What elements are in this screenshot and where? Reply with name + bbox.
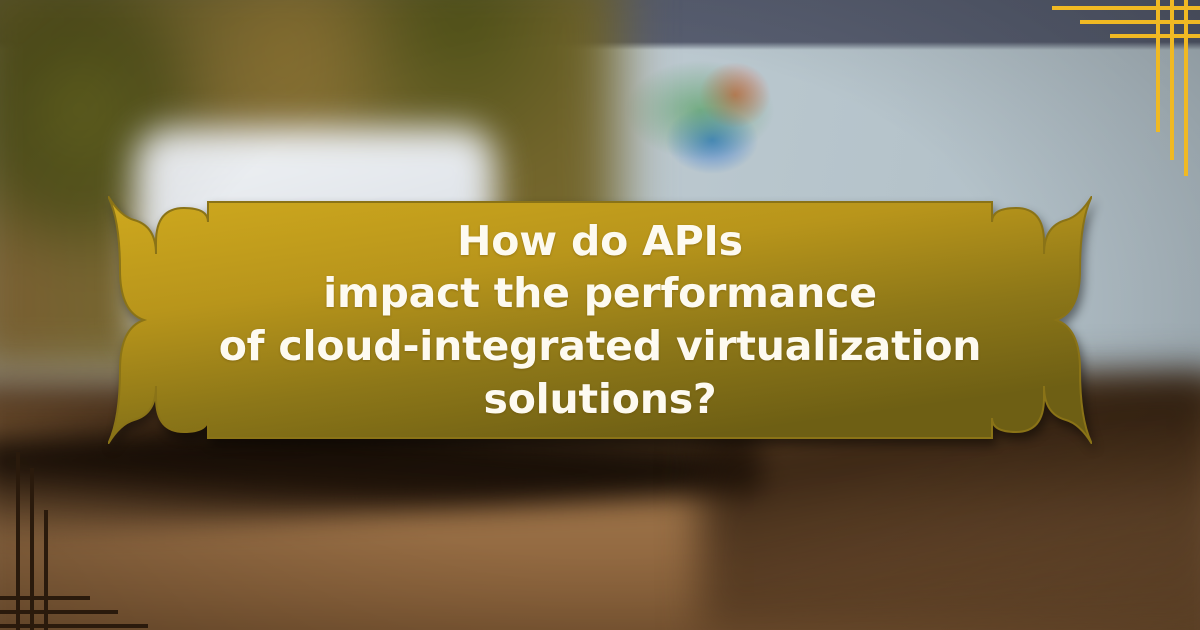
title-line-1: How do APIs (457, 215, 743, 268)
plaque-title-text: How do APIs impact the performance of cl… (108, 196, 1092, 444)
title-line-4: solutions? (483, 373, 716, 426)
title-line-3: of cloud-integrated virtualization (219, 320, 982, 373)
title-line-2: impact the performance (323, 267, 877, 320)
social-card-canvas: How do APIs impact the performance of cl… (0, 0, 1200, 630)
